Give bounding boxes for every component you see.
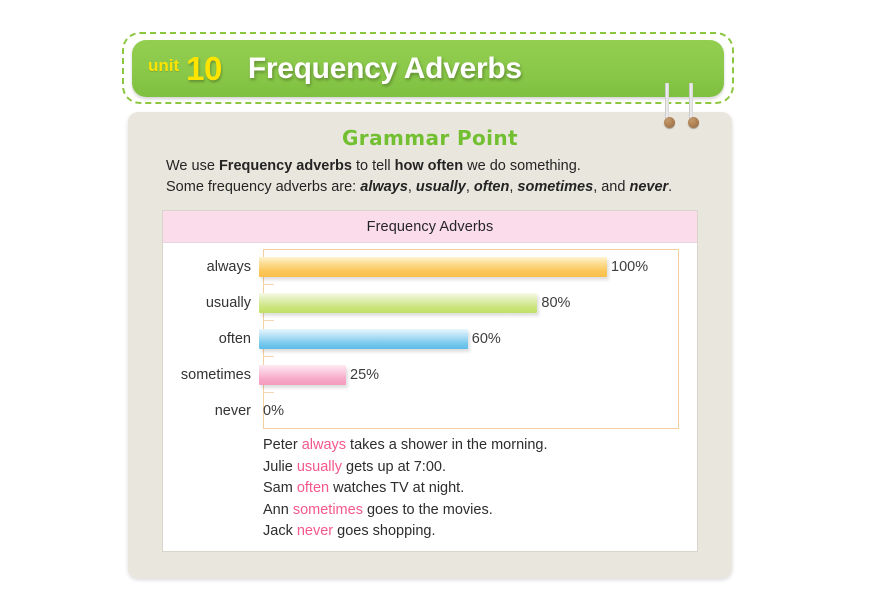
intro-text-run: Frequency adverbs <box>219 158 352 174</box>
example-sentence: Sam often watches TV at night. <box>263 478 548 500</box>
chart-bar-row: never0% <box>163 393 697 429</box>
chart-bar-value: 100% <box>611 259 648 275</box>
chart-bar-row: usually80% <box>163 285 697 321</box>
chart-bar-label: always <box>163 259 259 275</box>
chart-bar-label: never <box>163 403 259 419</box>
chart-bar <box>259 365 346 385</box>
intro-text-run: never <box>629 179 668 195</box>
intro-text-run: always <box>360 179 408 195</box>
sentence-suffix: goes to the movies. <box>363 502 493 518</box>
intro-text-run: We use <box>166 158 219 174</box>
sentence-suffix: gets up at 7:00. <box>342 459 446 475</box>
chart-bar <box>259 329 468 349</box>
chart-bar-wrap: 80% <box>259 285 697 321</box>
highlighted-adverb: never <box>297 523 333 539</box>
grammar-point-heading: Grammar Point <box>128 126 732 150</box>
intro-text-run: sometimes <box>517 179 593 195</box>
chart-bar-value: 25% <box>350 367 379 383</box>
chart-bar-row: always100% <box>163 249 697 285</box>
chart-bar-wrap: 0% <box>259 393 697 429</box>
sentence-prefix: Ann <box>263 502 293 518</box>
chart-plot-area: always100%usually80%often60%sometimes25%… <box>163 243 697 431</box>
pin-icon-right <box>688 83 694 128</box>
chart-title-bar: Frequency Adverbs <box>163 211 697 243</box>
chart-bar-row: sometimes25% <box>163 357 697 393</box>
intro-text-run: usually <box>416 179 466 195</box>
sentence-prefix: Sam <box>263 480 297 496</box>
pin-head <box>664 117 675 128</box>
example-sentence: Julie usually gets up at 7:00. <box>263 457 548 479</box>
intro-text-run: Some frequency adverbs are: <box>166 179 360 195</box>
sentence-suffix: watches TV at night. <box>329 480 464 496</box>
pin-head <box>688 117 699 128</box>
sentence-suffix: goes shopping. <box>333 523 435 539</box>
sentence-suffix: takes a shower in the morning. <box>346 437 548 453</box>
example-sentences-list: Peter always takes a shower in the morni… <box>263 435 548 543</box>
intro-line-1: We use Frequency adverbs to tell how oft… <box>166 156 696 177</box>
intro-text-run: we do something. <box>463 158 581 174</box>
example-sentence: Peter always takes a shower in the morni… <box>263 435 548 457</box>
chart-bar-row: often60% <box>163 321 697 357</box>
frequency-chart-panel: Frequency Adverbs always100%usually80%of… <box>162 210 698 552</box>
chart-bar-label: often <box>163 331 259 347</box>
intro-text-run: to tell <box>352 158 395 174</box>
intro-text-run: , <box>466 179 474 195</box>
highlighted-adverb: usually <box>297 459 342 475</box>
chart-bar <box>259 293 537 313</box>
intro-text-run: , <box>408 179 416 195</box>
chart-bar-label: usually <box>163 295 259 311</box>
intro-text-run: how often <box>395 158 463 174</box>
pin-shaft <box>689 83 693 119</box>
sentence-prefix: Jack <box>263 523 297 539</box>
highlighted-adverb: sometimes <box>293 502 363 518</box>
chart-bar-value: 60% <box>472 331 501 347</box>
chart-bar-value: 80% <box>541 295 570 311</box>
chart-bar-label: sometimes <box>163 367 259 383</box>
sentence-prefix: Peter <box>263 437 302 453</box>
pin-icon-left <box>664 83 670 128</box>
pin-shaft <box>665 83 669 119</box>
example-sentence: Ann sometimes goes to the movies. <box>263 500 548 522</box>
unit-number-label: 10 <box>186 50 222 88</box>
example-sentence: Jack never goes shopping. <box>263 521 548 543</box>
chart-title: Frequency Adverbs <box>367 219 494 235</box>
intro-text-run: , and <box>593 179 629 195</box>
unit-banner: unit 10 Frequency Adverbs <box>132 40 724 97</box>
sentence-prefix: Julie <box>263 459 297 475</box>
chart-bar-value: 0% <box>263 403 284 419</box>
lesson-card: Grammar Point We use Frequency adverbs t… <box>128 112 732 578</box>
intro-text-run: . <box>668 179 672 195</box>
chart-bar-wrap: 25% <box>259 357 697 393</box>
chart-bar-wrap: 60% <box>259 321 697 357</box>
intro-text: We use Frequency adverbs to tell how oft… <box>166 156 696 198</box>
intro-text-run: often <box>474 179 509 195</box>
chart-bar <box>259 257 607 277</box>
page-title: Frequency Adverbs <box>248 52 522 86</box>
highlighted-adverb: always <box>302 437 346 453</box>
highlighted-adverb: often <box>297 480 329 496</box>
unit-word-label: unit <box>148 56 179 76</box>
chart-bar-wrap: 100% <box>259 249 697 285</box>
intro-line-2: Some frequency adverbs are: always, usua… <box>166 177 696 198</box>
